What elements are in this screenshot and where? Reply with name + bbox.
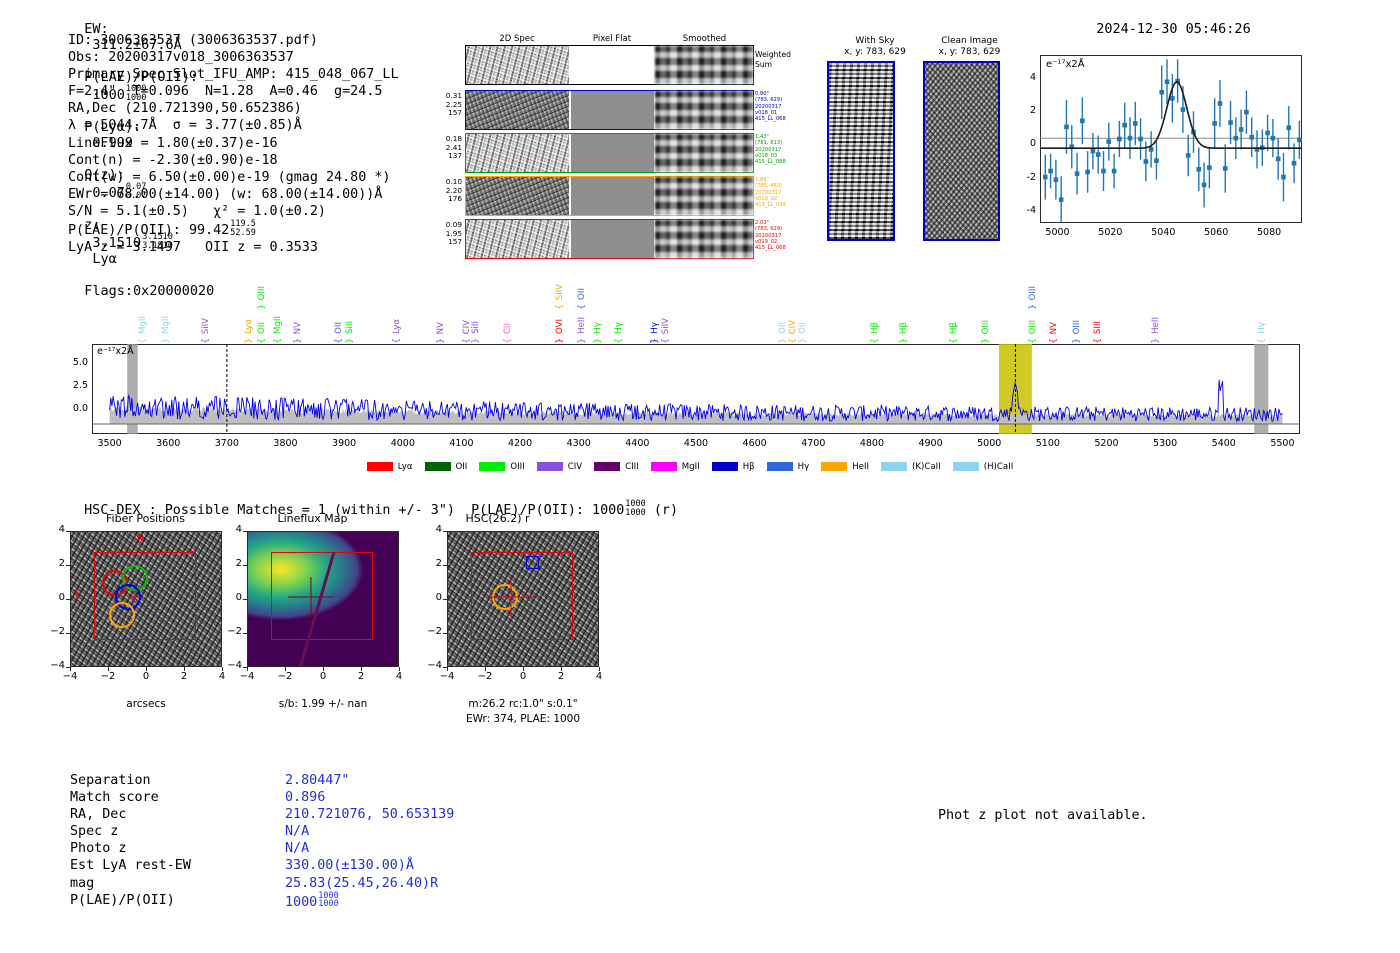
panel-ytickmark: [243, 531, 247, 532]
emission-line-label-CII-14: CII: [503, 323, 513, 334]
panel-ytickmark: [66, 633, 70, 634]
spec2d-right-labels-1: 0.80" (783, 629) 20200317 v018_01 415_LL…: [755, 91, 805, 122]
line-fit-canvas: [1040, 55, 1302, 223]
photz-unavailable-message: Phot z plot not available.: [938, 808, 1148, 823]
legend-swatch-icon: [367, 462, 393, 471]
spec2d-left-labels-1: 0.31 2.25 157: [432, 92, 462, 118]
panel-ytick-2-0: −4: [421, 660, 442, 671]
legend-item-OIII: OIII: [479, 462, 524, 472]
panel-ytickmark: [443, 531, 447, 532]
hsc-r-axis-layer: −4−4−2−2002244: [447, 531, 599, 667]
spec2d-image-2dspec-3: [466, 177, 569, 215]
info-line-obs: Obs: 20200317v018_3006363537: [68, 49, 399, 66]
panel-xtick-2-2: 0: [503, 671, 543, 682]
emission-line-label-OIII-33: OIII: [1072, 320, 1082, 334]
emission-line-label-MgII-6: MgII: [273, 316, 283, 334]
spectrum-xtick-14: 4900: [906, 438, 956, 449]
match-key-estlyaew: Est LyA rest-EW: [70, 857, 191, 874]
panel-title-fiber-positions: Fiber Positions: [63, 512, 228, 525]
emission-line-label-HeII-35: HeII: [1151, 317, 1161, 334]
spectrum-xtick-2: 3700: [202, 438, 252, 449]
panel-ytick-0-3: 2: [44, 558, 65, 569]
line-fit-ytick-0: -4: [1014, 205, 1036, 216]
panel-xtick-2-1: −2: [465, 671, 505, 682]
emission-line-label-OII-23: OII: [778, 322, 788, 334]
panel-ytickmark: [443, 565, 447, 566]
legend-swatch-icon: [651, 462, 677, 471]
panel-xtick-1-0: −4: [227, 671, 267, 682]
cutout-subtitle-text-1: x, y: 783, 629: [939, 47, 1001, 57]
panel-xtick-2-0: −4: [427, 671, 467, 682]
emission-line-label-SiIV-2: SiIV: [201, 318, 211, 334]
panel-xtickmark: [361, 667, 362, 671]
info-line-seeing: F=2.4" T=0.096 N=1.28 A=0.46 g=24.5: [68, 83, 399, 100]
emission-line-label-MgII-0: MgII: [138, 316, 148, 334]
legend-swatch-icon: [537, 462, 563, 471]
panel-xtick-2-3: 2: [541, 671, 581, 682]
panel-ytick-1-2: 0: [221, 592, 242, 603]
panel-xtickmark: [599, 667, 600, 671]
legend-label: CIII: [625, 462, 639, 472]
emission-line-label-MgII-1: MgII: [161, 316, 171, 334]
spec2d-image-2dspec-sum: [466, 46, 569, 84]
panel-ytick-1-0: −4: [221, 660, 242, 671]
panel-ytick-0-0: −4: [44, 660, 65, 671]
panel-xtickmark: [485, 667, 486, 671]
emission-line-label-Hγ-21: Hγ: [650, 322, 660, 334]
match-value-photoz: N/A: [285, 840, 309, 857]
spec2d-row-weighted-sum: [465, 45, 754, 85]
match-value-plae: 100010001000: [285, 892, 339, 911]
emission-line-label-Hβ-27: Hβ: [899, 322, 909, 334]
panel-xtick-0-1: −2: [88, 671, 128, 682]
panel-ytick-2-4: 4: [421, 524, 442, 535]
emission-line-label-NV-11: NV: [436, 322, 446, 334]
legend-item-(K)CaII: (K)CaII: [881, 462, 941, 472]
match-key-separation: Separation: [70, 772, 151, 789]
emission-line-label-SiIV-16: SiIV: [555, 284, 565, 300]
cutout-subtitle-text-0: x, y: 783, 629: [844, 47, 906, 57]
info-line-slot: Primary Spec_Slot_IFU_AMP: 415_048_067_L…: [68, 66, 399, 83]
panel-ytick-2-3: 2: [421, 558, 442, 569]
panel-ytickmark: [443, 667, 447, 668]
emission-line-label-SiII-13: SiII: [471, 321, 481, 334]
spectrum-xtick-layer: 3500360037003800390040004100420043004400…: [92, 434, 1300, 458]
panel-ytick-1-1: −2: [221, 626, 242, 637]
spectrum-xtick-3: 3800: [261, 438, 311, 449]
spec2d-image-smoothed-sum: [655, 46, 753, 84]
spectrum-xtick-18: 5300: [1140, 438, 1190, 449]
spec2d-title-smoothed: Smoothed: [655, 34, 754, 44]
spec2d-left-labels-4: 0.09 1.95 157: [432, 221, 462, 247]
emission-line-label-Lyα-3: Lyα: [244, 319, 254, 334]
panel-xtick-1-4: 4: [379, 671, 419, 682]
legend-label: (K)CaII: [912, 462, 941, 472]
legend-label: HeII: [852, 462, 869, 472]
emission-line-brace-icon: }: [257, 304, 267, 310]
legend-item-MgII: MgII: [651, 462, 700, 472]
panel-xtickmark: [247, 667, 248, 671]
spectrum-xtick-6: 4100: [436, 438, 486, 449]
match-value-radec: 210.721076, 50.653139: [285, 806, 454, 823]
legend-label: (H)CaII: [984, 462, 1014, 472]
legend-swatch-icon: [479, 462, 505, 471]
emission-line-label-SiII-9: SiII: [345, 321, 355, 334]
emission-line-label-Hγ-19: Hγ: [593, 322, 603, 334]
hsc-r-xlabel: m:26.2 rc:1.0" s:0.1": [437, 698, 609, 710]
spec2d-image-smoothed-1: [655, 91, 753, 129]
spectrum-xtick-20: 5500: [1257, 438, 1307, 449]
hsc-headline-plae-range: 10001000: [625, 500, 645, 517]
lineflux-map-axis-layer: −4−4−2−2002244: [247, 531, 399, 667]
line-fit-xtick-3: 5060: [1192, 227, 1240, 238]
panel-ytickmark: [66, 565, 70, 566]
panel-xtickmark: [70, 667, 71, 671]
line-fit-ytick-1: -2: [1014, 172, 1036, 183]
spectrum-xtick-17: 5200: [1081, 438, 1131, 449]
fiber-positions-xlabel: arcsecs: [70, 698, 222, 710]
spectrum-xtick-12: 4700: [788, 438, 838, 449]
spec2d-panel-group: 2D Spec Pixel Flat Smoothed WeightedSum …: [432, 34, 762, 249]
spec2d-right-labels-4: 2.03" (783, 629) 20200317 v019_02 415_LL…: [755, 220, 805, 251]
legend-swatch-icon: [953, 462, 979, 471]
line-fit-xtick-1: 5020: [1086, 227, 1134, 238]
info-line-contw: Cont(w) = 6.50(±0.00)e-19 (gmag 24.80 *): [68, 169, 399, 186]
info-line-plae: P(LAE)/P(OII): 99.42119.552.59: [68, 220, 399, 239]
detection-info-block: ID: 3006363537 (3006363537.pdf) Obs: 202…: [68, 32, 399, 256]
spectrum-ytick-2: 5.0: [62, 357, 88, 368]
spectrum-ytick-0: 0.0: [62, 403, 88, 414]
spec2d-weighted-sum-label: WeightedSum: [755, 50, 805, 69]
spec2d-image-2dspec-1: [466, 91, 569, 129]
legend-swatch-icon: [425, 462, 451, 471]
panel-ytickmark: [66, 531, 70, 532]
spectrum-xtick-4: 3900: [319, 438, 369, 449]
line-fit-xtick-2: 5040: [1139, 227, 1187, 238]
spec2d-left-labels-3: 0.10 2.20 176: [432, 178, 462, 204]
hsc-headline-band: (r): [654, 503, 678, 518]
emission-line-label-NV-32: NV: [1049, 322, 1059, 334]
panel-xtickmark: [447, 667, 448, 671]
spec2d-image-2dspec-2: [466, 134, 569, 172]
legend-label: Lyα: [398, 462, 413, 472]
legend-item-CIV: CIV: [537, 462, 582, 472]
legend-item-(H)CaII: (H)CaII: [953, 462, 1014, 472]
info-line-snr: S/N = 5.1(±0.5) χ² = 1.0(±0.2): [68, 203, 399, 220]
panel-ytick-1-4: 4: [221, 524, 242, 535]
panel-ytickmark: [66, 599, 70, 600]
spec2d-title-pixelflat: Pixel Flat: [570, 34, 654, 44]
emission-line-label-OIII-31: OIII: [1028, 286, 1038, 300]
spectrum-xtick-7: 4200: [495, 438, 545, 449]
emission-line-label-OII-8: OII: [334, 322, 344, 334]
info-line-contn: Cont(n) = -2.30(±0.90)e-18: [68, 152, 399, 169]
emission-line-label-HeII-17: HeII: [577, 317, 587, 334]
match-key-plae: P(LAE)/P(OII): [70, 892, 175, 909]
match-value-estlyaew: 330.00(±130.00)Å: [285, 857, 414, 874]
spec2d-row-1: [465, 90, 754, 130]
cutout-title-text-1: Clean Image: [941, 36, 998, 46]
full-spectrum-canvas: [92, 344, 1300, 434]
emission-line-label-Lyα-10: Lyα: [392, 319, 402, 334]
panel-ytick-0-2: 0: [44, 592, 65, 603]
info-line-radec: RA,Dec (210.721390,50.652386): [68, 100, 399, 117]
match-key-photoz: Photo z: [70, 840, 126, 857]
panel-ytickmark: [243, 599, 247, 600]
line-fit-xtick-4: 5080: [1245, 227, 1293, 238]
full-spectrum-plot: MgII{MgII}SiIV{Lyα}OII{OIII}MgII{NV}OII{…: [92, 344, 1300, 434]
info-line-wavelength: λ = 5044.7Å σ = 3.77(±0.85)Å: [68, 117, 399, 134]
line-fit-ytick-2: 0: [1014, 138, 1036, 149]
legend-item-Lyα: Lyα: [367, 462, 413, 472]
emission-line-label-OII-4: OII: [257, 322, 267, 334]
spec2d-image-smoothed-3: [655, 177, 753, 215]
legend-label: Hγ: [798, 462, 810, 472]
info-plae-label: P(LAE)/P(OII):: [68, 223, 181, 238]
cutout-title-text-0: With Sky: [855, 36, 894, 46]
spec2d-image-smoothed-4: [655, 220, 753, 258]
panel-xtick-1-1: −2: [265, 671, 305, 682]
emission-line-label-SiIV-22: SiIV: [661, 318, 671, 334]
spectrum-xtick-8: 4300: [554, 438, 604, 449]
panel-title-lineflux-map: Lineflux Map: [230, 512, 395, 525]
panel-xtickmark: [523, 667, 524, 671]
panel-xtick-1-2: 0: [303, 671, 343, 682]
emission-line-label-CIV-24: CIV: [788, 320, 798, 334]
emission-line-label-OII-18: OII: [577, 288, 587, 300]
panel-ytick-0-1: −2: [44, 626, 65, 637]
spec2d-image-pixelflat-1: [571, 91, 654, 129]
panel-ytickmark: [443, 633, 447, 634]
match-value-separation: 2.80447": [285, 772, 350, 789]
panel-ytickmark: [443, 599, 447, 600]
emission-line-label-OIII-5: OIII: [257, 286, 267, 300]
emission-line-brace-icon: {: [555, 304, 565, 310]
spectrum-xtick-13: 4800: [847, 438, 897, 449]
spec2d-right-labels-2: 1.43" (781, 813) 20200317 v018_03 415_LL…: [755, 134, 805, 165]
panel-xtickmark: [285, 667, 286, 671]
panel-xtickmark: [108, 667, 109, 671]
emission-line-label-layer: MgII{MgII}SiIV{Lyα}OII{OIII}MgII{NV}OII{…: [92, 276, 1300, 344]
legend-item-CIII: CIII: [594, 462, 639, 472]
cutout-title-clean-image: Clean Image x, y: 783, 629: [912, 36, 1027, 58]
emission-line-label-OII-25: OII: [798, 322, 808, 334]
emission-line-label-Hγ-36: Hγ: [1257, 322, 1267, 334]
emission-line-label-Hβ-26: Hβ: [870, 322, 880, 334]
panel-xtick-2-4: 4: [579, 671, 619, 682]
match-value-mag: 25.83(25.45,26.40)R: [285, 875, 438, 892]
legend-swatch-icon: [821, 462, 847, 471]
spectrum-legend: LyαOIIOIIICIVCIIIMgIIHβHγHeII(K)CaII(H)C…: [92, 456, 1300, 475]
emission-line-label-NV-7: NV: [293, 322, 303, 334]
spec2d-right-labels-3: 1.89" (785, 463) 20200317 v019_02 415_LL…: [755, 177, 805, 208]
info-plae-range: 119.552.59: [230, 220, 256, 237]
legend-label: OII: [456, 462, 468, 472]
legend-item-HeII: HeII: [821, 462, 869, 472]
spec2d-image-pixelflat-3: [571, 177, 654, 215]
match-key-score: Match score: [70, 789, 159, 806]
panel-xtick-0-3: 2: [164, 671, 204, 682]
match-key-mag: mag: [70, 875, 94, 892]
panel-ytickmark: [243, 565, 247, 566]
panel-xtickmark: [561, 667, 562, 671]
emission-line-brace-icon: {: [577, 304, 587, 310]
spec2d-left-labels-2: 0.18 2.41 137: [432, 135, 462, 161]
legend-label: OIII: [510, 462, 524, 472]
panel-xtickmark: [146, 667, 147, 671]
panel-ytick-2-2: 0: [421, 592, 442, 603]
spec2d-title-2dspec: 2D Spec: [465, 34, 569, 44]
spec2d-image-pixelflat-2: [571, 134, 654, 172]
spectrum-xtick-5: 4000: [378, 438, 428, 449]
spectrum-xtick-10: 4500: [671, 438, 721, 449]
spectrum-xtick-1: 3600: [143, 438, 193, 449]
legend-swatch-icon: [767, 462, 793, 471]
spectrum-xtick-16: 5100: [1023, 438, 1073, 449]
match-value-score: 0.896: [285, 789, 325, 806]
cutout-image-with-sky: [827, 61, 895, 241]
spec2d-row-2: [465, 133, 754, 173]
spec2d-image-pixelflat-sum: [571, 46, 654, 84]
match-value-plae-range: 10001000: [318, 892, 338, 909]
lineflux-map-xlabel: s/b: 1.99 +/- nan: [247, 698, 399, 710]
emission-line-brace-icon: }: [1028, 304, 1038, 310]
spec2d-row-3: [465, 176, 754, 216]
match-value-specz: N/A: [285, 823, 309, 840]
info-line-lineflux: LineFlux = 1.80(±0.37)e-16: [68, 135, 399, 152]
spec2d-row-4: [465, 219, 754, 259]
full-spectrum-flux-unit-annotation: e⁻¹⁷x2Å: [97, 346, 134, 357]
match-key-specz: Spec z: [70, 823, 118, 840]
panel-xtick-0-0: −4: [50, 671, 90, 682]
emission-line-label-SIII-34: SIII: [1093, 321, 1103, 334]
legend-swatch-icon: [881, 462, 907, 471]
legend-label: CIV: [568, 462, 582, 472]
emission-line-label-Hβ-28: Hβ: [949, 322, 959, 334]
legend-swatch-icon: [594, 462, 620, 471]
line-fit-zoom-plot: e⁻¹⁷x2Å 4 2 0 -2 -4 5000 5020 5040 5060 …: [1040, 55, 1302, 223]
emission-line-label-Hγ-20: Hγ: [614, 322, 624, 334]
panel-xtickmark: [184, 667, 185, 671]
panel-ytick-1-3: 2: [221, 558, 242, 569]
panel-xtickmark: [323, 667, 324, 671]
emission-line-label-OIII-29: OIII: [981, 320, 991, 334]
panel-ytickmark: [66, 667, 70, 668]
legend-swatch-icon: [712, 462, 738, 471]
panel-ytick-2-1: −2: [421, 626, 442, 637]
spectrum-ytick-1: 2.5: [62, 380, 88, 391]
report-timestamp: 2024-12-30 05:46:26: [1096, 21, 1250, 37]
line-fit-ytick-3: 2: [1014, 105, 1036, 116]
panel-xtick-0-2: 0: [126, 671, 166, 682]
legend-item-Hβ: Hβ: [712, 462, 755, 472]
legend-label: Hβ: [743, 462, 755, 472]
info-line-redshifts: LyA z = 3.1497 OII z = 0.3533: [68, 239, 399, 256]
cutout-image-clean: [923, 61, 1000, 241]
legend-item-Hγ: Hγ: [767, 462, 810, 472]
panel-ytickmark: [243, 633, 247, 634]
spec2d-image-pixelflat-4: [571, 220, 654, 258]
spec2d-image-smoothed-2: [655, 134, 753, 172]
spectrum-xtick-19: 5400: [1199, 438, 1249, 449]
spec2d-image-2dspec-4: [466, 220, 569, 258]
spectrum-xtick-15: 5000: [964, 438, 1014, 449]
match-key-radec: RA, Dec: [70, 806, 126, 823]
legend-item-OII: OII: [425, 462, 468, 472]
emission-line-label-OIII-30: OIII: [1028, 320, 1038, 334]
spectrum-xtick-9: 4400: [612, 438, 662, 449]
panel-xtickmark: [399, 667, 400, 671]
spectrum-xtick-11: 4600: [730, 438, 780, 449]
panel-ytick-0-4: 4: [44, 524, 65, 535]
panel-xtick-1-3: 2: [341, 671, 381, 682]
spectrum-xtick-0: 3500: [85, 438, 135, 449]
fiber-positions-axis-layer: −4−4−2−2002244: [70, 531, 222, 667]
legend-label: MgII: [682, 462, 700, 472]
line-fit-ytick-4: 4: [1014, 72, 1036, 83]
hsc-r-sublabel: EWr: 374, PLAE: 1000: [437, 713, 609, 725]
emission-line-label-OVI-15: OVI: [555, 319, 565, 334]
line-fit-xtick-0: 5000: [1034, 227, 1082, 238]
info-line-ewr: EWr = 68.00(±14.00) (w: 68.00(±14.00))Å: [68, 186, 399, 203]
info-plae-value: 99.42: [189, 223, 229, 238]
info-line-id: ID: 3006363537 (3006363537.pdf): [68, 32, 399, 49]
panel-ytickmark: [243, 667, 247, 668]
